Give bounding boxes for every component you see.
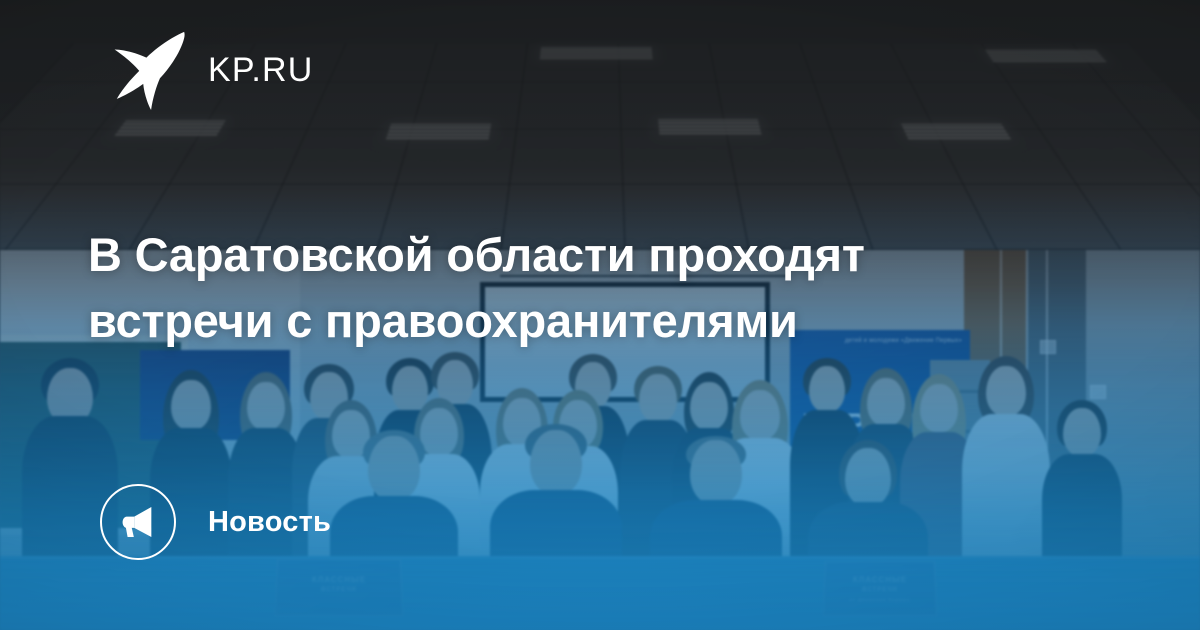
headline-line-2: встречи с правоохранителями [88, 288, 1098, 354]
megaphone-badge-circle [100, 484, 176, 560]
headline-line-1: В Саратовской области проходят [88, 222, 1098, 288]
status-badge-label: Новость [208, 506, 331, 539]
megaphone-icon [118, 502, 158, 542]
brand-name: KP.RU [208, 51, 314, 90]
brand-lockup[interactable]: KP.RU [112, 30, 314, 110]
news-share-card: детей и молодежи «Движение Первых» ПЕРВЫ [0, 0, 1200, 630]
page-title: В Саратовской области проходят встречи с… [88, 222, 1098, 354]
status-badge[interactable]: Новость [100, 484, 331, 560]
swallow-bird-icon [112, 30, 186, 110]
